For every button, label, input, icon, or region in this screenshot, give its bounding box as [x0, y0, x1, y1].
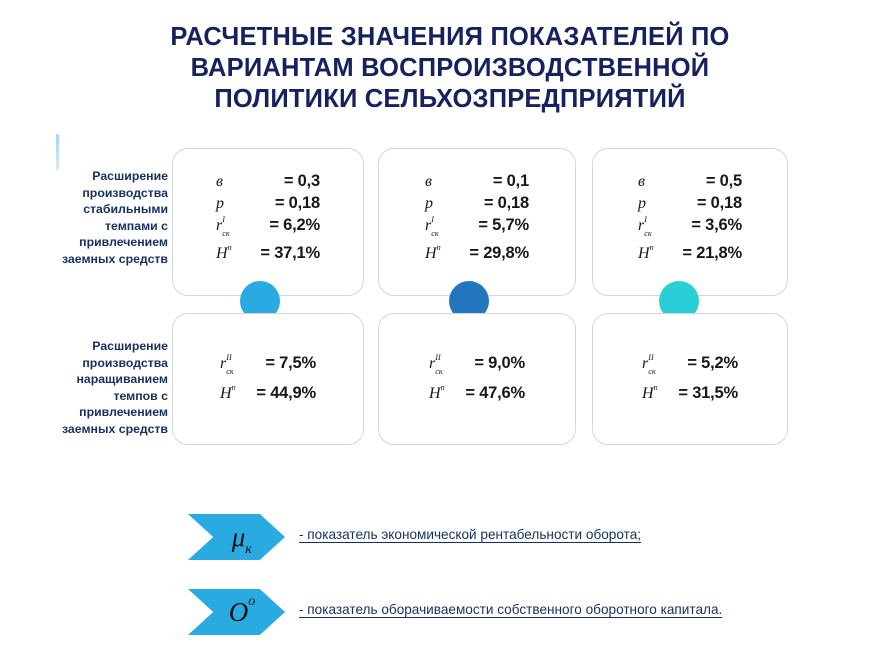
metric-row: Hп = 21,8% — [638, 244, 742, 263]
metric-symbol: в — [638, 173, 645, 191]
metric-value: = 0,5 — [706, 172, 742, 191]
metric-symbol: Hп — [638, 245, 650, 263]
metric-symbol: rскII — [220, 355, 226, 373]
metric-row: в = 0,5 — [638, 172, 742, 191]
metric-symbol: rскI — [216, 217, 222, 235]
metric-symbol-base: в — [425, 173, 432, 190]
metric-symbol-base: H — [425, 245, 437, 262]
metric-value: = 6,2% — [269, 216, 320, 235]
metric-symbol-base: H — [220, 385, 232, 402]
metric-symbol-sup: I — [644, 215, 647, 224]
metric-list: в = 0,1 p = 0,18 rскI = 5,7% Hп = 29,8% — [379, 172, 575, 263]
metric-row: в = 0,3 — [216, 172, 320, 191]
metric-row: rскI = 3,6% — [638, 216, 742, 235]
metric-symbol-sup: п — [650, 243, 654, 252]
metric-row: Hп = 37,1% — [216, 244, 320, 263]
metric-card[interactable]: в = 0,3 p = 0,18 rскI = 6,2% Hп = 37,1% — [172, 148, 364, 296]
metric-symbol-sup: II — [435, 353, 440, 362]
legend-glyph-o: Oo — [229, 597, 249, 628]
title-line-3: ПОЛИТИКИ СЕЛЬХОЗПРЕДПРИЯТИЙ — [110, 84, 790, 115]
metric-symbol-sup: II — [648, 353, 653, 362]
metric-row: p = 0,18 — [638, 194, 742, 213]
metric-value: = 29,8% — [469, 244, 529, 263]
metric-symbol-sub: ск — [431, 229, 438, 238]
metric-list: в = 0,3 p = 0,18 rскI = 6,2% Hп = 37,1% — [173, 172, 363, 263]
legend-glyph-mu: μк — [232, 522, 246, 553]
accent-bar — [56, 134, 59, 170]
metric-symbol: p — [216, 195, 224, 213]
metric-symbol-base: p — [425, 195, 433, 212]
metric-card[interactable]: rскII = 7,5% Hп = 44,9% — [172, 313, 364, 445]
metric-symbol: Hп — [642, 385, 654, 403]
metric-symbol-sub: ск — [222, 229, 229, 238]
metric-value: = 44,9% — [256, 384, 316, 403]
legend-entry: μк - показатель экономической рентабельн… — [0, 514, 885, 560]
metric-value: = 0,18 — [697, 194, 742, 213]
metric-value: = 0,3 — [284, 172, 320, 191]
metric-card[interactable]: в = 0,5 p = 0,18 rскI = 3,6% Hп = 21,8% — [592, 148, 788, 296]
metric-symbol: rскI — [425, 217, 431, 235]
metric-row: в = 0,1 — [425, 172, 529, 191]
metric-row: Hп = 29,8% — [425, 244, 529, 263]
metric-value: = 9,0% — [474, 354, 525, 373]
metric-symbol-sup: I — [431, 215, 434, 224]
metric-symbol: Hп — [425, 245, 437, 263]
metric-symbol: p — [425, 195, 433, 213]
metric-value: = 7,5% — [265, 354, 316, 373]
legend-entry: Oo - показатель оборачиваемости собствен… — [0, 589, 885, 635]
legend-glyph-base: O — [229, 597, 249, 627]
row-label-stable-growth: Расширение производства стабильными темп… — [50, 168, 168, 268]
metric-symbol: rскII — [642, 355, 648, 373]
metric-value: = 31,5% — [678, 384, 738, 403]
metric-symbol: в — [216, 173, 223, 191]
metric-value: = 37,1% — [260, 244, 320, 263]
metric-list: rскII = 7,5% Hп = 44,9% — [173, 354, 363, 403]
metric-value: = 3,6% — [691, 216, 742, 235]
metric-card[interactable]: в = 0,1 p = 0,18 rскI = 5,7% Hп = 29,8% — [378, 148, 576, 296]
metric-symbol-base: H — [429, 385, 441, 402]
title-line-1: РАСЧЕТНЫЕ ЗНАЧЕНИЯ ПОКАЗАТЕЛЕЙ ПО — [110, 22, 790, 53]
row-label-accelerated-growth: Расширение производства наращиванием тем… — [50, 338, 168, 438]
metric-symbol: Hп — [429, 385, 441, 403]
metric-row: rскII = 5,2% — [642, 354, 738, 373]
legend-description: - показатель оборачиваемости собственног… — [299, 602, 722, 617]
metric-row: Hп = 44,9% — [220, 384, 316, 403]
metric-symbol-sub: ск — [226, 367, 233, 376]
metric-value: = 5,7% — [478, 216, 529, 235]
metric-symbol-sup: п — [437, 243, 441, 252]
metric-symbol: Hп — [220, 385, 232, 403]
legend-banner-mu: μк — [188, 514, 285, 560]
metric-symbol-base: H — [642, 385, 654, 402]
legend-glyph-sup: o — [248, 594, 255, 610]
legend-description: - показатель экономической рентабельност… — [299, 527, 641, 542]
legend-glyph-base: μ — [232, 522, 246, 552]
metric-card[interactable]: rскII = 9,0% Hп = 47,6% — [378, 313, 576, 445]
metric-symbol-sup: п — [441, 383, 445, 392]
metric-symbol-sub: ск — [648, 367, 655, 376]
metric-row: p = 0,18 — [216, 194, 320, 213]
metric-symbol: в — [425, 173, 432, 191]
metric-row: rскII = 9,0% — [429, 354, 525, 373]
metric-symbol-sup: п — [232, 383, 236, 392]
metric-value: = 0,18 — [484, 194, 529, 213]
metric-symbol-sup: I — [222, 215, 225, 224]
metric-value: = 21,8% — [682, 244, 742, 263]
metric-list: rскII = 5,2% Hп = 31,5% — [593, 354, 787, 403]
metric-symbol: rскI — [638, 217, 644, 235]
metric-row: p = 0,18 — [425, 194, 529, 213]
metric-symbol-base: в — [216, 173, 223, 190]
metric-row: Hп = 31,5% — [642, 384, 738, 403]
metric-row: rскII = 7,5% — [220, 354, 316, 373]
metric-row: rскI = 5,7% — [425, 216, 529, 235]
metric-symbol-base: H — [638, 245, 650, 262]
metric-symbol-sub: ск — [644, 229, 651, 238]
metric-symbol-base: H — [216, 245, 228, 262]
metric-list: в = 0,5 p = 0,18 rскI = 3,6% Hп = 21,8% — [593, 172, 787, 263]
title-line-2: ВАРИАНТАМ ВОСПРОИЗВОДСТВЕННОЙ — [110, 53, 790, 84]
page-title: РАСЧЕТНЫЕ ЗНАЧЕНИЯ ПОКАЗАТЕЛЕЙ ПО ВАРИАН… — [110, 22, 790, 115]
metric-value: = 0,18 — [275, 194, 320, 213]
metric-symbol-sub: ск — [435, 367, 442, 376]
metric-symbol-base: p — [216, 195, 224, 212]
metric-row: rскI = 6,2% — [216, 216, 320, 235]
metric-row: Hп = 47,6% — [429, 384, 525, 403]
metric-card[interactable]: rскII = 5,2% Hп = 31,5% — [592, 313, 788, 445]
metric-symbol-sup: п — [228, 243, 232, 252]
metric-symbol: p — [638, 195, 646, 213]
metric-symbol: rскII — [429, 355, 435, 373]
legend-glyph-sub: к — [245, 542, 252, 558]
metric-symbol-sup: II — [226, 353, 231, 362]
metric-value: = 5,2% — [687, 354, 738, 373]
legend-banner-o: Oo — [188, 589, 285, 635]
metric-symbol-base: p — [638, 195, 646, 212]
metric-symbol-base: в — [638, 173, 645, 190]
metric-list: rскII = 9,0% Hп = 47,6% — [379, 354, 575, 403]
metric-value: = 0,1 — [493, 172, 529, 191]
metric-symbol: Hп — [216, 245, 228, 263]
metric-symbol-sup: п — [654, 383, 658, 392]
metric-value: = 47,6% — [465, 384, 525, 403]
